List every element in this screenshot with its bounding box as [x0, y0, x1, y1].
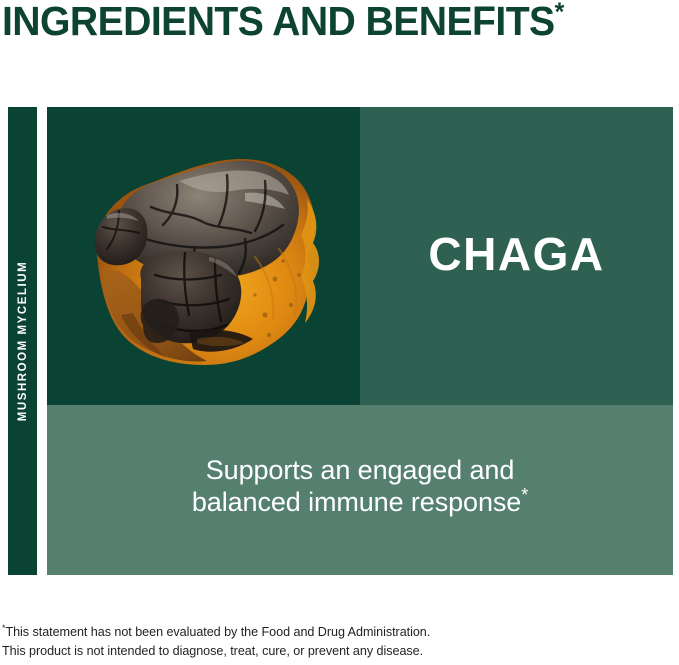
category-tab-label: MUSHROOM MYCELIUM [17, 261, 29, 422]
benefit-line-1: Supports an engaged and [206, 455, 514, 485]
fda-disclaimer: *This statement has not been evaluated b… [2, 623, 542, 660]
ingredient-benefit-text: Supports an engaged andbalanced immune r… [192, 454, 528, 519]
ingredient-name: CHAGA [428, 231, 604, 277]
page-title-text: INGREDIENTS AND BENEFITS [2, 0, 555, 44]
page-title-asterisk: * [555, 0, 564, 26]
ingredient-benefit-band: Supports an engaged andbalanced immune r… [47, 405, 673, 575]
page-title: INGREDIENTS AND BENEFITS* [2, 0, 648, 44]
chaga-mushroom-icon [59, 129, 349, 383]
ingredient-name-pane: CHAGA [360, 107, 673, 405]
disclaimer-line-2: This product is not intended to diagnose… [2, 642, 542, 661]
benefit-asterisk: * [521, 485, 528, 505]
ingredient-image-pane [47, 107, 360, 405]
ingredient-card-upper: CHAGA [47, 107, 673, 405]
disclaimer-line-1: This statement has not been evaluated by… [5, 625, 430, 639]
ingredient-card: CHAGA Supports an engaged andbalanced im… [47, 107, 673, 575]
benefit-line-2: balanced immune response [192, 487, 521, 517]
category-tab-mushroom-mycelium: MUSHROOM MYCELIUM [8, 107, 37, 575]
